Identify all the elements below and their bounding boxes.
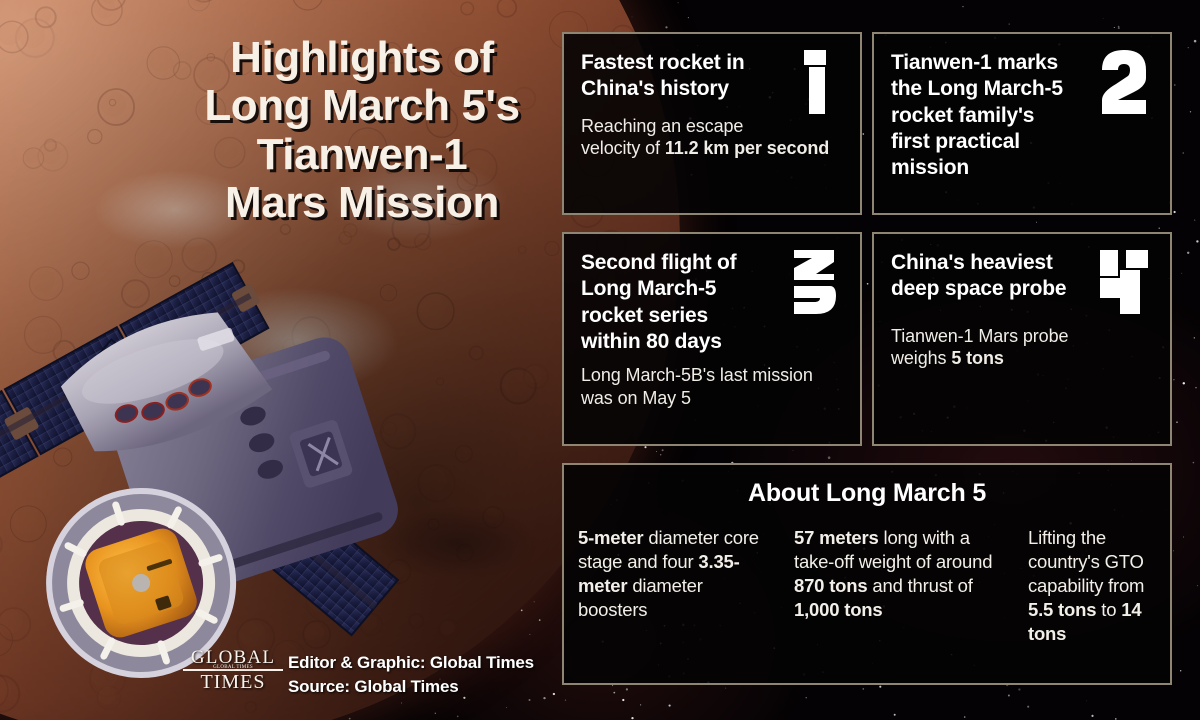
about-column-3: Lifting the country's GTO capability fro… [1028,526,1168,646]
card-number-2 [1096,48,1152,116]
highlight-card-4: China's heaviest deep space probe Tianwe… [872,232,1172,446]
logo-word-times: TIMES [183,672,283,692]
tianwen-1-spacecraft [0,148,560,720]
card-detail: Tianwen-1 Mars probe weighs 5 tons [891,325,1153,370]
logo-micro-text: GLOBAL TIMES [213,665,253,670]
highlight-card-1: Fastest rocket in China's history Reachi… [562,32,862,215]
infographic-canvas: Highlights of Long March 5's Tianwen-1 M… [0,0,1200,720]
about-columns: 5-meter diameter core stage and four 3.3… [564,508,1170,646]
card-number-4 [1096,248,1152,316]
logo-divider: GLOBAL TIMES [183,669,283,671]
card-detail: Long March-5B's last mission was on May … [581,364,843,409]
credits-text: Editor & Graphic: Global Times Source: G… [288,651,534,699]
about-title: About Long March 5 [564,479,1170,508]
highlight-card-3: Second flight of Long March-5 rocket ser… [562,232,862,446]
page-title: Highlights of Long March 5's Tianwen-1 M… [152,34,572,228]
about-column-1: 5-meter diameter core stage and four 3.3… [578,526,770,646]
about-long-march-5-panel: About Long March 5 5-meter diameter core… [562,463,1172,685]
about-column-2: 57 meters long with a take-off weight of… [794,526,1004,646]
global-times-logo: GLOBAL GLOBAL TIMES TIMES [183,648,283,692]
card-detail: Reaching an escape velocity of 11.2 km p… [581,115,843,160]
card-number-1 [786,48,842,116]
card-number-3 [786,248,842,316]
highlight-card-2: Tianwen-1 marks the Long March-5 rocket … [872,32,1172,215]
